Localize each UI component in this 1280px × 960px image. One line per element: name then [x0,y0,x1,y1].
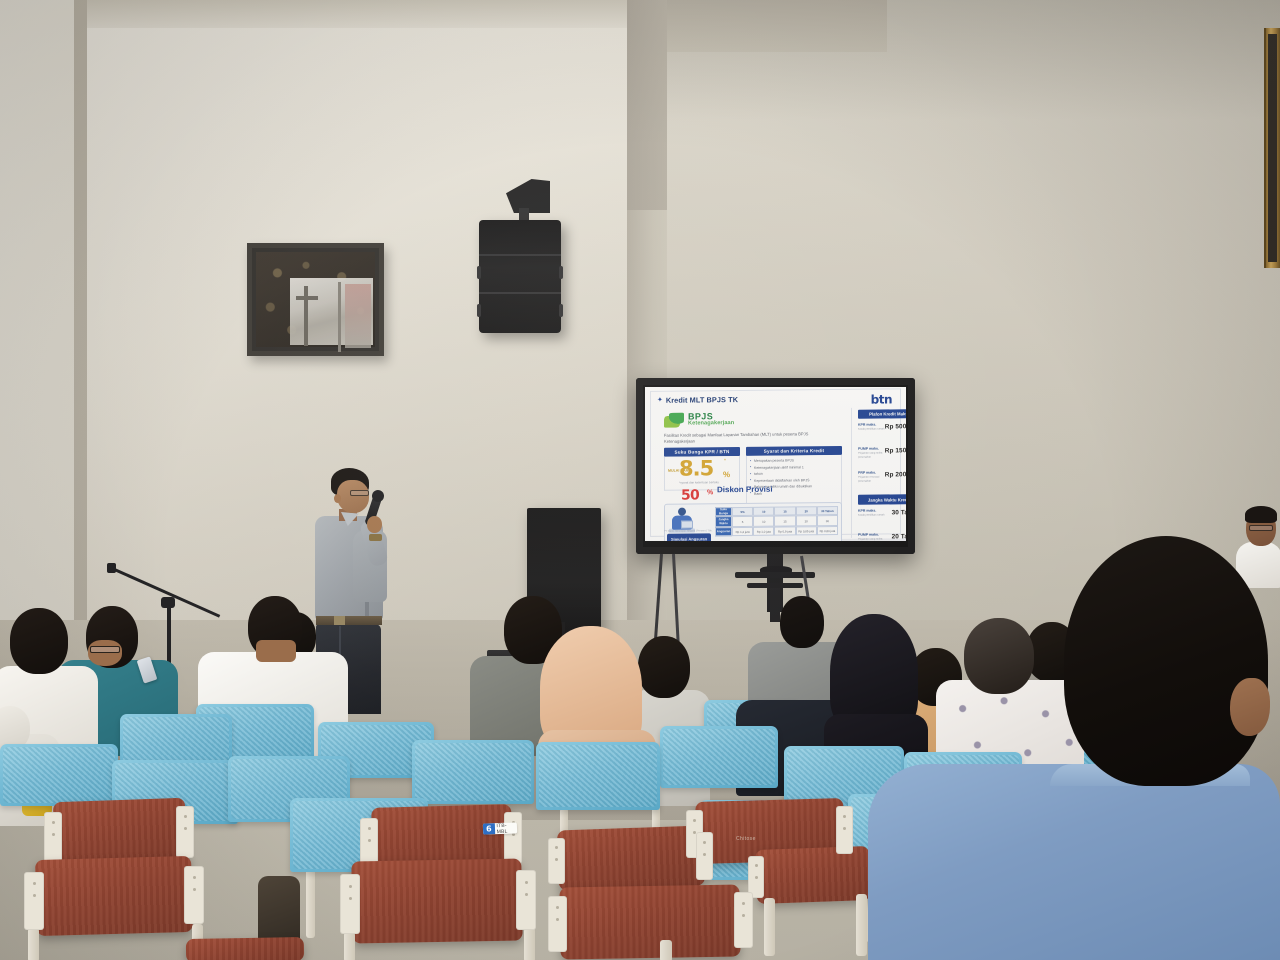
chair-blue[interactable] [0,744,118,806]
chair-blue[interactable] [536,742,660,810]
wall-speaker [479,220,561,333]
chair-blue[interactable] [412,740,534,804]
wall-edge-far-left [0,0,74,700]
attendee-shirt [868,764,1280,960]
chair-wooden[interactable] [557,825,705,890]
chair-blue[interactable] [660,726,778,788]
seat-number-sticker: 6 ITB-MBL [483,822,517,834]
presenter-hand [367,516,382,533]
chair-brand-label: Chitose [736,836,756,842]
chair-wooden[interactable] [351,859,522,944]
picture-glass-reflection [290,278,373,345]
glasses-icon [350,490,369,496]
chair-wooden[interactable] [559,884,740,959]
chair-wooden[interactable] [35,856,193,936]
attendee-head [780,596,824,648]
microphone-head-icon [372,490,384,502]
ceiling-slab [87,0,627,28]
photo-scene: ✦ Kredit MLT BPJS TK btn BPJS Ketenagake… [0,0,1280,960]
attendee-head [1064,536,1268,786]
attendee-foreground-blue-shirt [868,528,1280,960]
framed-picture [247,243,384,356]
attendee-head [10,608,68,674]
seat-number: 6 [483,823,495,834]
chair-wooden[interactable] [755,846,871,904]
wall-shadow-strip [74,0,87,700]
presenter-face [337,480,369,513]
pillar-shadow [627,0,667,210]
wristwatch-icon [369,534,382,541]
ceiling-soffit [667,0,887,52]
seat-sticker-text: ITB-MBL [494,822,517,834]
mic-clip-icon [107,563,116,573]
gold-frame-inner [1268,34,1277,262]
attendee-ear [1230,678,1270,736]
chair-wooden[interactable] [186,937,304,960]
